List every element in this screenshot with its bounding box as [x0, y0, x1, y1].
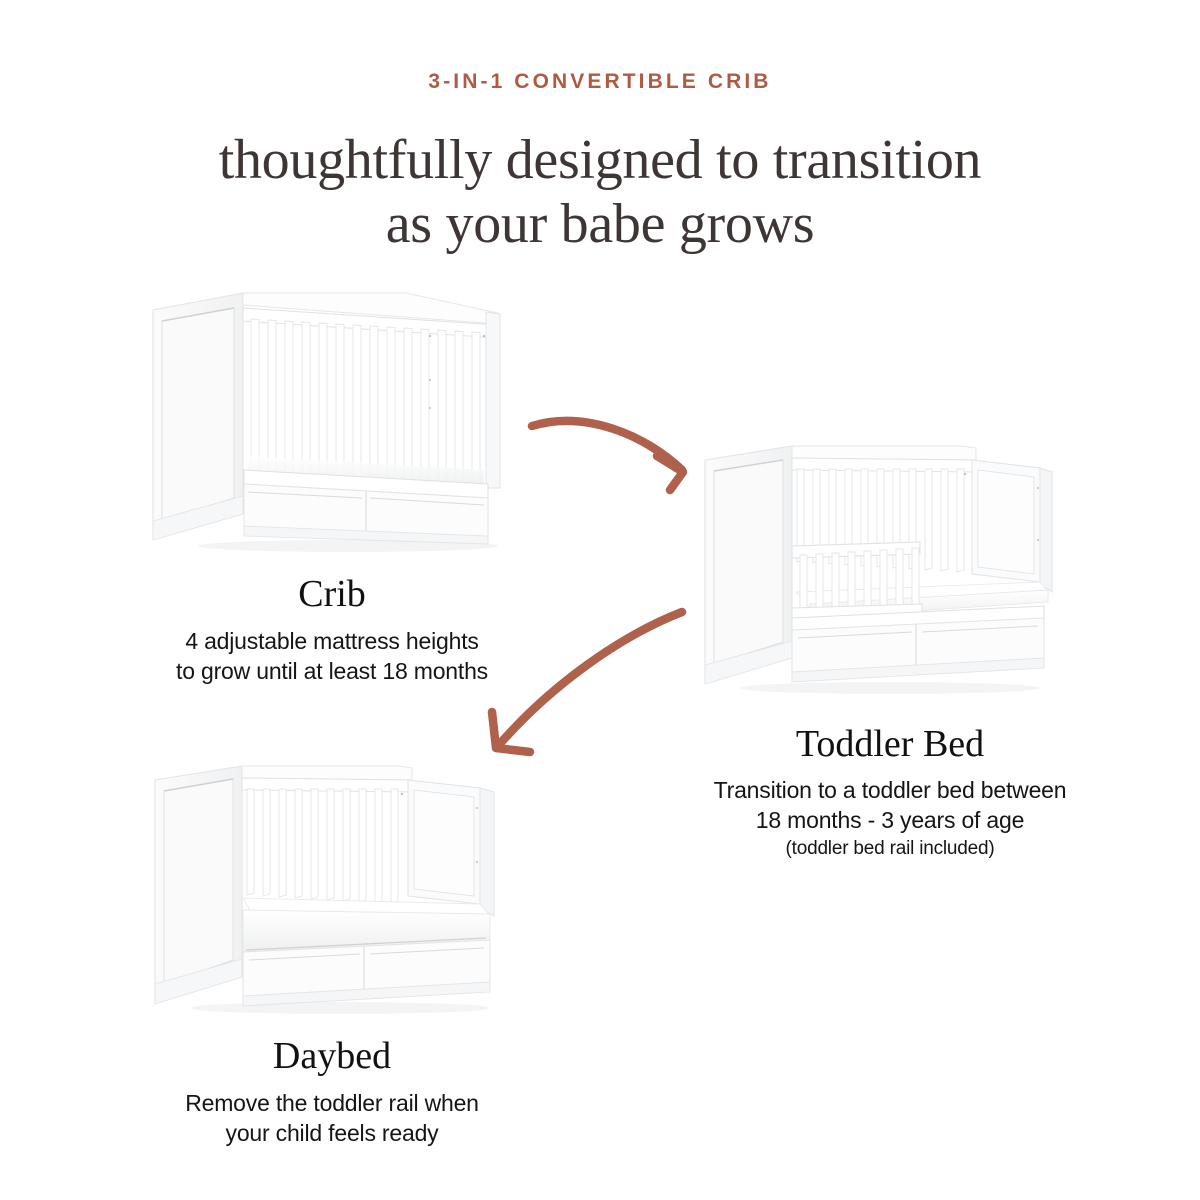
stage-desc-daybed-line-1: Remove the toddler rail when — [82, 1088, 582, 1118]
stage-desc-crib-line-2: to grow until at least 18 months — [82, 656, 582, 686]
stage-caption-daybed: Daybed Remove the toddler rail when your… — [82, 1034, 582, 1148]
stage-desc-crib-line-1: 4 adjustable mattress heights — [82, 626, 582, 656]
toddler-bed-product-image — [700, 442, 1068, 700]
page-title-line-1: thoughtfully designed to transition — [0, 128, 1200, 192]
stage-desc-daybed-line-2: your child feels ready — [82, 1118, 582, 1148]
stage-title-daybed: Daybed — [82, 1034, 582, 1078]
daybed-product-image — [150, 758, 510, 1020]
stage-title-toddler-bed: Toddler Bed — [640, 722, 1140, 766]
page-title: thoughtfully designed to transition as y… — [0, 128, 1200, 256]
eyebrow-label: 3-IN-1 CONVERTIBLE CRIB — [0, 70, 1200, 94]
stage-caption-toddler-bed: Toddler Bed Transition to a toddler bed … — [640, 722, 1140, 863]
stage-desc-toddler-bed-line-2: 18 months - 3 years of age — [640, 805, 1140, 835]
stage-caption-crib: Crib 4 adjustable mattress heights to gr… — [82, 572, 582, 686]
page-title-line-2: as your babe grows — [0, 192, 1200, 256]
crib-product-image — [148, 288, 508, 558]
curved-arrow-icon — [524, 404, 714, 504]
stage-note-toddler-bed: (toddler bed rail included) — [640, 835, 1140, 863]
stage-title-crib: Crib — [82, 572, 582, 616]
stage-desc-toddler-bed-line-1: Transition to a toddler bed between — [640, 775, 1140, 805]
